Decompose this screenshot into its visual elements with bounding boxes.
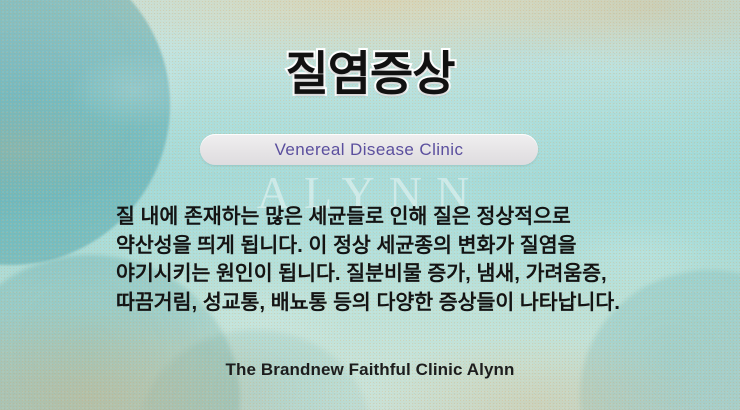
body-paragraph: 질 내에 존재하는 많은 세균들로 인해 질은 정상적으로 약산성을 띄게 됩니… (116, 203, 624, 317)
clinic-info-card: ALYNN 질염증상 Venereal Disease Clinic 질 내에 … (0, 0, 740, 410)
subtitle-pill: Venereal Disease Clinic (200, 134, 538, 165)
card-content: 질염증상 Venereal Disease Clinic 질 내에 존재하는 많… (0, 0, 740, 410)
clinic-footer-label: The Brandnew Faithful Clinic Alynn (0, 360, 740, 380)
page-title: 질염증상 (0, 46, 740, 101)
subtitle-label: Venereal Disease Clinic (275, 140, 464, 160)
